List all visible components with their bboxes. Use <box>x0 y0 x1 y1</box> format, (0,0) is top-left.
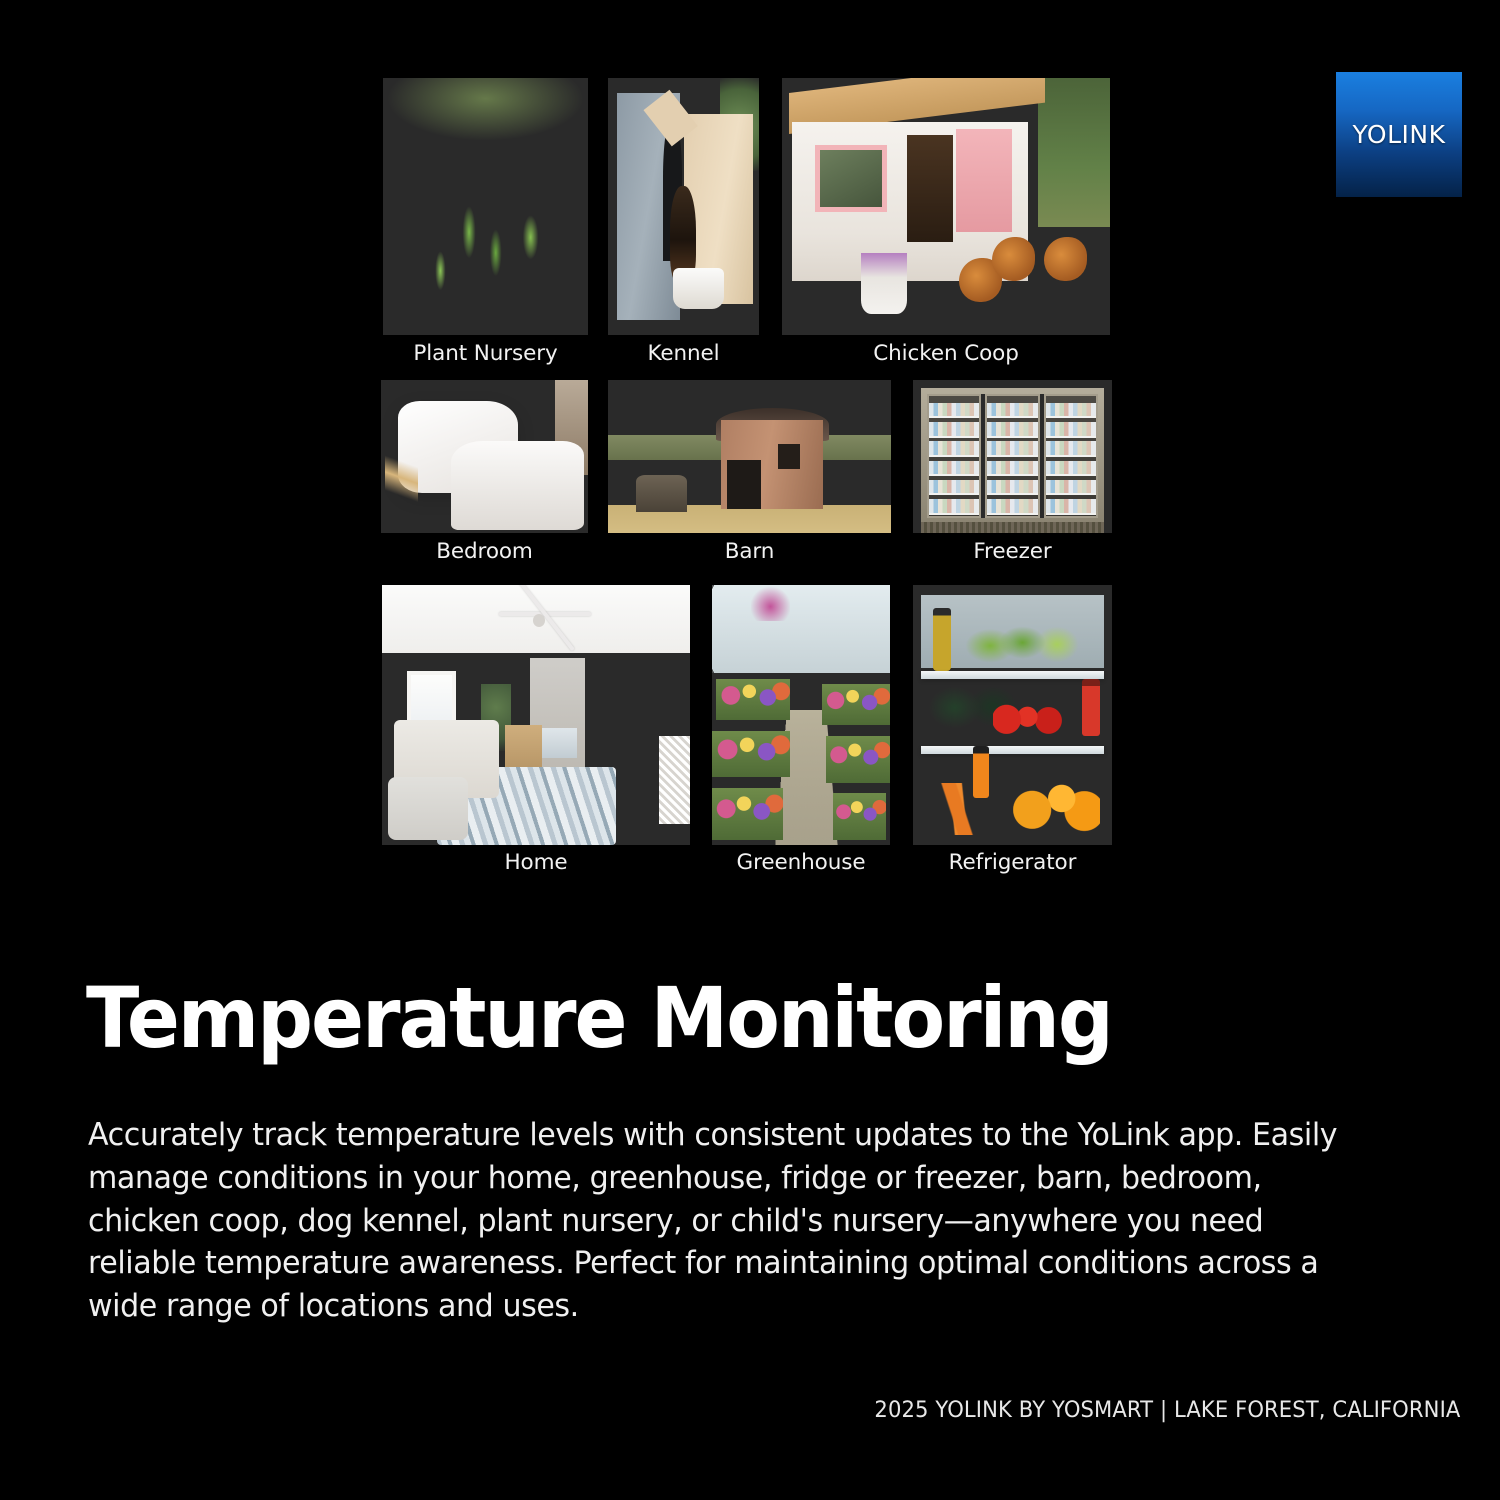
gallery-tile-plant-nursery: Plant Nursery <box>383 78 588 335</box>
gallery-caption: Refrigerator <box>949 850 1077 875</box>
fridge-red-bottle <box>1082 679 1100 736</box>
page-title: Temperature Monitoring <box>86 976 1112 1060</box>
kennel-bowl <box>673 268 724 309</box>
plant-nursery-photo <box>383 78 588 335</box>
greenhouse-bench <box>833 793 886 840</box>
greenhouse-bench <box>712 788 783 840</box>
greenhouse-photo <box>712 585 890 845</box>
ceiling-fan-icon <box>499 603 591 626</box>
kennel-photo <box>608 78 759 335</box>
bedroom-photo <box>381 380 588 533</box>
home-armchair <box>388 777 468 839</box>
bedroom-headboard <box>555 380 588 475</box>
coop-pink-door <box>956 129 1012 232</box>
gallery-caption: Kennel <box>647 341 719 366</box>
gallery-tile-kennel: Kennel <box>608 78 759 335</box>
coop-doorway <box>907 135 953 243</box>
fridge-carrots <box>925 783 989 835</box>
coop-flower-pot <box>861 253 907 315</box>
ceiling-fan-hub <box>533 614 545 627</box>
freezer-case-frame <box>921 388 1104 524</box>
freezer-door <box>985 394 1039 518</box>
gallery-caption: Freezer <box>973 539 1051 564</box>
fridge-tomatoes <box>993 699 1069 735</box>
gallery-caption: Plant Nursery <box>413 341 557 366</box>
gallery-caption: Bedroom <box>436 539 533 564</box>
greenhouse-roof-frame <box>712 585 890 673</box>
coop-window <box>815 145 887 212</box>
freezer-base-grille <box>921 522 1104 533</box>
greenhouse-bench <box>822 684 890 726</box>
gallery-tile-home: Home <box>382 585 690 845</box>
freezer-door <box>927 394 981 518</box>
gallery-caption: Greenhouse <box>737 850 866 875</box>
coop-hen <box>1044 237 1087 281</box>
greenhouse-bench <box>716 679 791 721</box>
home-photo <box>382 585 690 845</box>
barn-photo <box>608 380 891 533</box>
fridge-green-vegetables <box>965 621 1080 665</box>
fridge-oranges <box>1013 772 1101 834</box>
fridge-shelf <box>921 746 1104 754</box>
freezer-door <box>1044 394 1098 518</box>
gallery-tile-freezer: Freezer <box>913 380 1112 533</box>
freezer-photo <box>913 380 1112 533</box>
gallery-tile-bedroom: Bedroom <box>381 380 588 533</box>
fridge-shelf <box>921 671 1104 679</box>
bedroom-dried-grass <box>385 447 418 527</box>
gallery-tile-chicken-coop: Chicken Coop <box>782 78 1110 335</box>
yolink-wordmark: YOLINK <box>1336 119 1462 148</box>
greenhouse-hanging-basket <box>751 585 790 621</box>
gallery-tile-barn: Barn <box>608 380 891 533</box>
barn-shed <box>636 475 687 512</box>
greenhouse-bench <box>712 731 790 778</box>
coop-hen <box>992 237 1035 281</box>
yolink-logo: YOLINK <box>1336 72 1462 197</box>
chicken-coop-photo <box>782 78 1110 335</box>
coop-trees <box>1038 78 1110 227</box>
description-paragraph: Accurately track temperature levels with… <box>88 1114 1349 1328</box>
footer-copyright: 2025 YOLINK BY YOSMART | LAKE FOREST, CA… <box>874 1398 1460 1423</box>
freezer-doors <box>927 394 1098 518</box>
fridge-oil-bottle <box>933 608 951 670</box>
gallery-caption: Barn <box>725 539 775 564</box>
gallery-caption: Home <box>504 850 567 875</box>
gallery-tile-greenhouse: Greenhouse <box>712 585 890 845</box>
refrigerator-photo <box>913 585 1112 845</box>
gallery-tile-refrigerator: Refrigerator <box>913 585 1112 845</box>
greenhouse-bench <box>826 736 890 783</box>
gallery-caption: Chicken Coop <box>873 341 1019 366</box>
barn-window <box>778 444 801 468</box>
barn-door <box>727 460 761 509</box>
home-wicker-chair <box>659 736 690 824</box>
